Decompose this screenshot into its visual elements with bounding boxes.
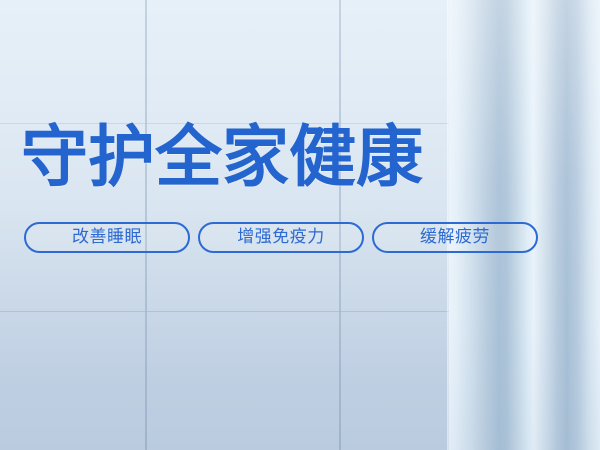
benefit-pill-relieve-fatigue[interactable]: 缓解疲劳 xyxy=(372,222,538,253)
benefit-pill-boost-immunity[interactable]: 增强免疫力 xyxy=(198,222,364,253)
banner-content: 守护全家健康 改善睡眠 增强免疫力 缓解疲劳 xyxy=(0,0,600,450)
benefit-pill-label: 改善睡眠 xyxy=(72,229,142,246)
benefit-pill-row: 改善睡眠 增强免疫力 缓解疲劳 xyxy=(24,222,538,253)
benefit-pill-label: 缓解疲劳 xyxy=(420,229,490,246)
health-banner: 守护全家健康 改善睡眠 增强免疫力 缓解疲劳 xyxy=(0,0,600,450)
benefit-pill-label: 增强免疫力 xyxy=(237,229,325,246)
banner-headline: 守护全家健康 xyxy=(21,117,423,197)
benefit-pill-improve-sleep[interactable]: 改善睡眠 xyxy=(24,222,190,253)
